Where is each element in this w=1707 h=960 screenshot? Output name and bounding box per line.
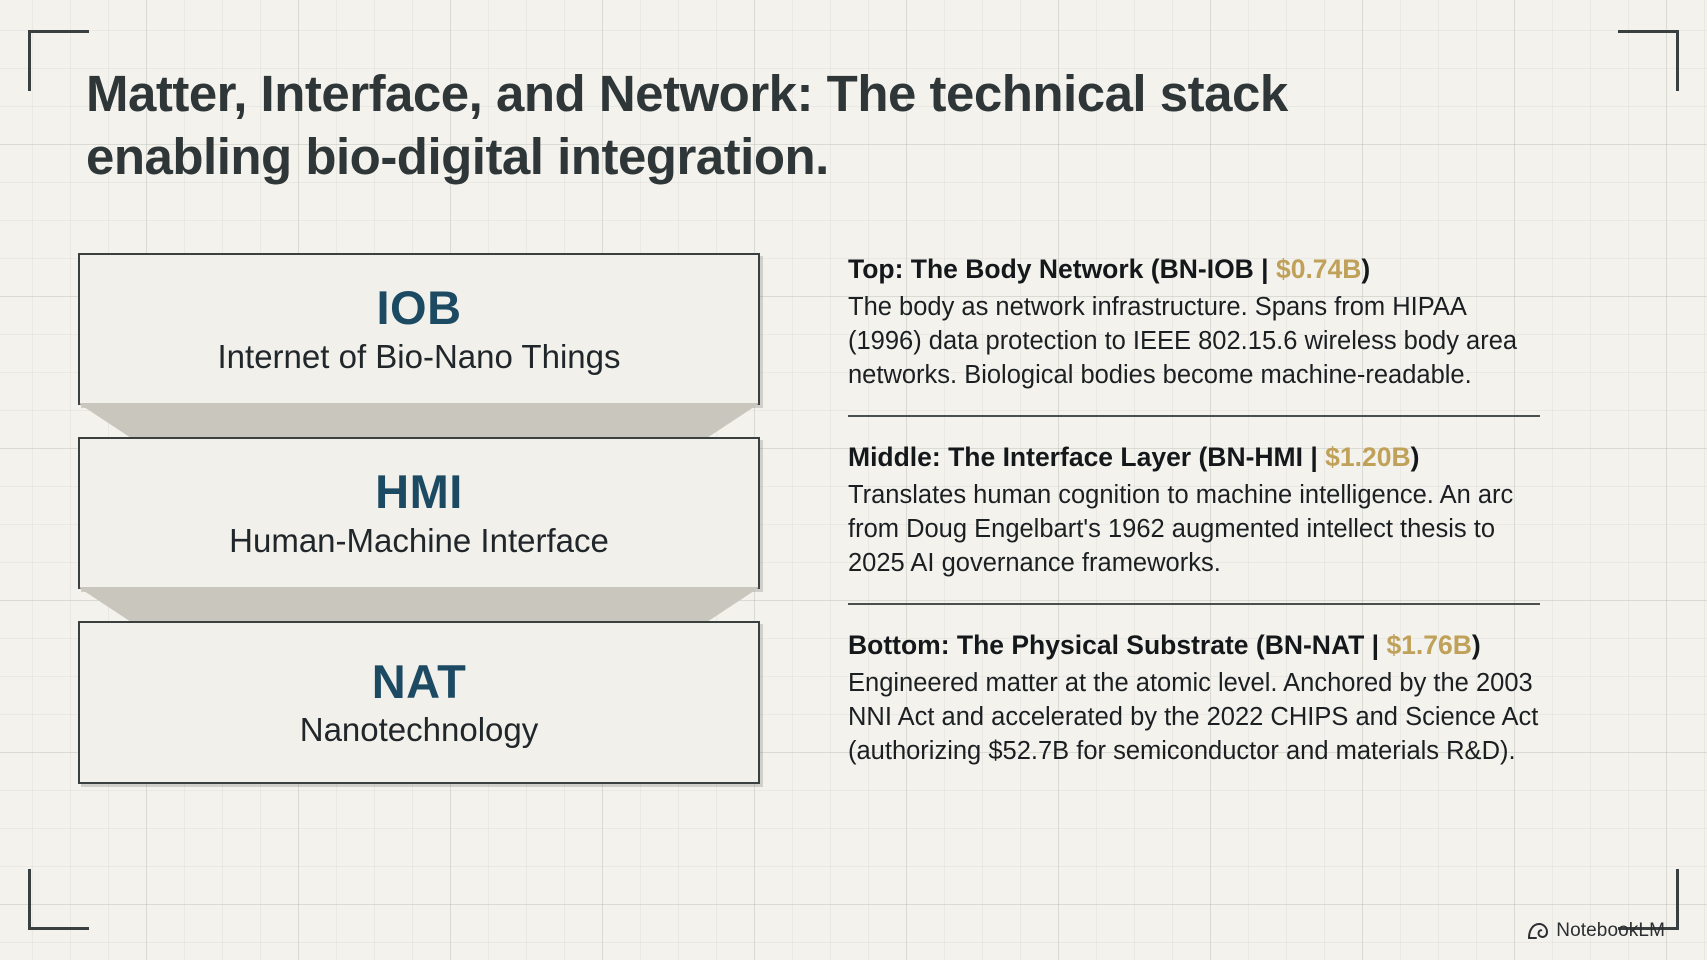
layer-acronym-iob: IOB bbox=[376, 283, 461, 332]
layer-acronym-hmi: HMI bbox=[375, 467, 463, 516]
notebooklm-watermark: NotebookLM bbox=[1527, 920, 1665, 942]
layer-acronym-nat: NAT bbox=[372, 657, 467, 706]
notebooklm-label: NotebookLM bbox=[1556, 920, 1665, 942]
detail-heading-suffix-middle: ) bbox=[1411, 442, 1420, 472]
detail-body-middle: Translates human cognition to machine in… bbox=[848, 479, 1540, 581]
detail-heading-middle: Middle: The Interface Layer (BN-HMI | $1… bbox=[848, 441, 1540, 474]
detail-column: Top: The Body Network (BN-IOB | $0.74B) … bbox=[828, 253, 1540, 769]
layer-box-hmi: HMI Human-Machine Interface bbox=[78, 437, 760, 589]
detail-value-bottom: $1.76B bbox=[1386, 630, 1471, 660]
layer-stack: IOB Internet of Bio-Nano Things HMI Huma… bbox=[78, 253, 760, 784]
layer-box-nat: NAT Nanotechnology bbox=[78, 621, 760, 784]
detail-block-middle: Middle: The Interface Layer (BN-HMI | $1… bbox=[828, 441, 1540, 581]
layer-name-nat: Nanotechnology bbox=[300, 712, 539, 748]
detail-heading-prefix-middle: Middle: The Interface Layer (BN-HMI | bbox=[848, 442, 1325, 472]
corner-bracket-top-left bbox=[28, 30, 89, 91]
detail-heading-top: Top: The Body Network (BN-IOB | $0.74B) bbox=[848, 253, 1540, 286]
detail-block-bottom: Bottom: The Physical Substrate (BN-NAT |… bbox=[828, 629, 1540, 769]
infographic-canvas: Matter, Interface, and Network: The tech… bbox=[0, 0, 1707, 960]
layer-name-iob: Internet of Bio-Nano Things bbox=[218, 339, 621, 375]
detail-body-bottom: Engineered matter at the atomic level. A… bbox=[848, 667, 1540, 769]
detail-value-top: $0.74B bbox=[1276, 254, 1361, 284]
layer-name-hmi: Human-Machine Interface bbox=[229, 523, 609, 559]
detail-heading-prefix-top: Top: The Body Network (BN-IOB | bbox=[848, 254, 1276, 284]
connector-iob-hmi bbox=[78, 403, 760, 439]
detail-body-top: The body as network infrastructure. Span… bbox=[848, 291, 1540, 393]
corner-bracket-bottom-left bbox=[28, 869, 89, 930]
detail-divider-1 bbox=[848, 415, 1540, 417]
corner-bracket-top-right bbox=[1618, 30, 1679, 91]
layer-box-iob: IOB Internet of Bio-Nano Things bbox=[78, 253, 760, 405]
detail-value-middle: $1.20B bbox=[1325, 442, 1410, 472]
detail-heading-bottom: Bottom: The Physical Substrate (BN-NAT |… bbox=[848, 629, 1540, 662]
notebooklm-spiral-icon bbox=[1527, 922, 1549, 940]
detail-divider-2 bbox=[848, 603, 1540, 605]
detail-heading-suffix-bottom: ) bbox=[1472, 630, 1481, 660]
page-title: Matter, Interface, and Network: The tech… bbox=[86, 62, 1506, 188]
connector-hmi-nat bbox=[78, 587, 760, 623]
detail-block-top: Top: The Body Network (BN-IOB | $0.74B) … bbox=[828, 253, 1540, 393]
detail-heading-prefix-bottom: Bottom: The Physical Substrate (BN-NAT | bbox=[848, 630, 1386, 660]
detail-heading-suffix-top: ) bbox=[1361, 254, 1370, 284]
